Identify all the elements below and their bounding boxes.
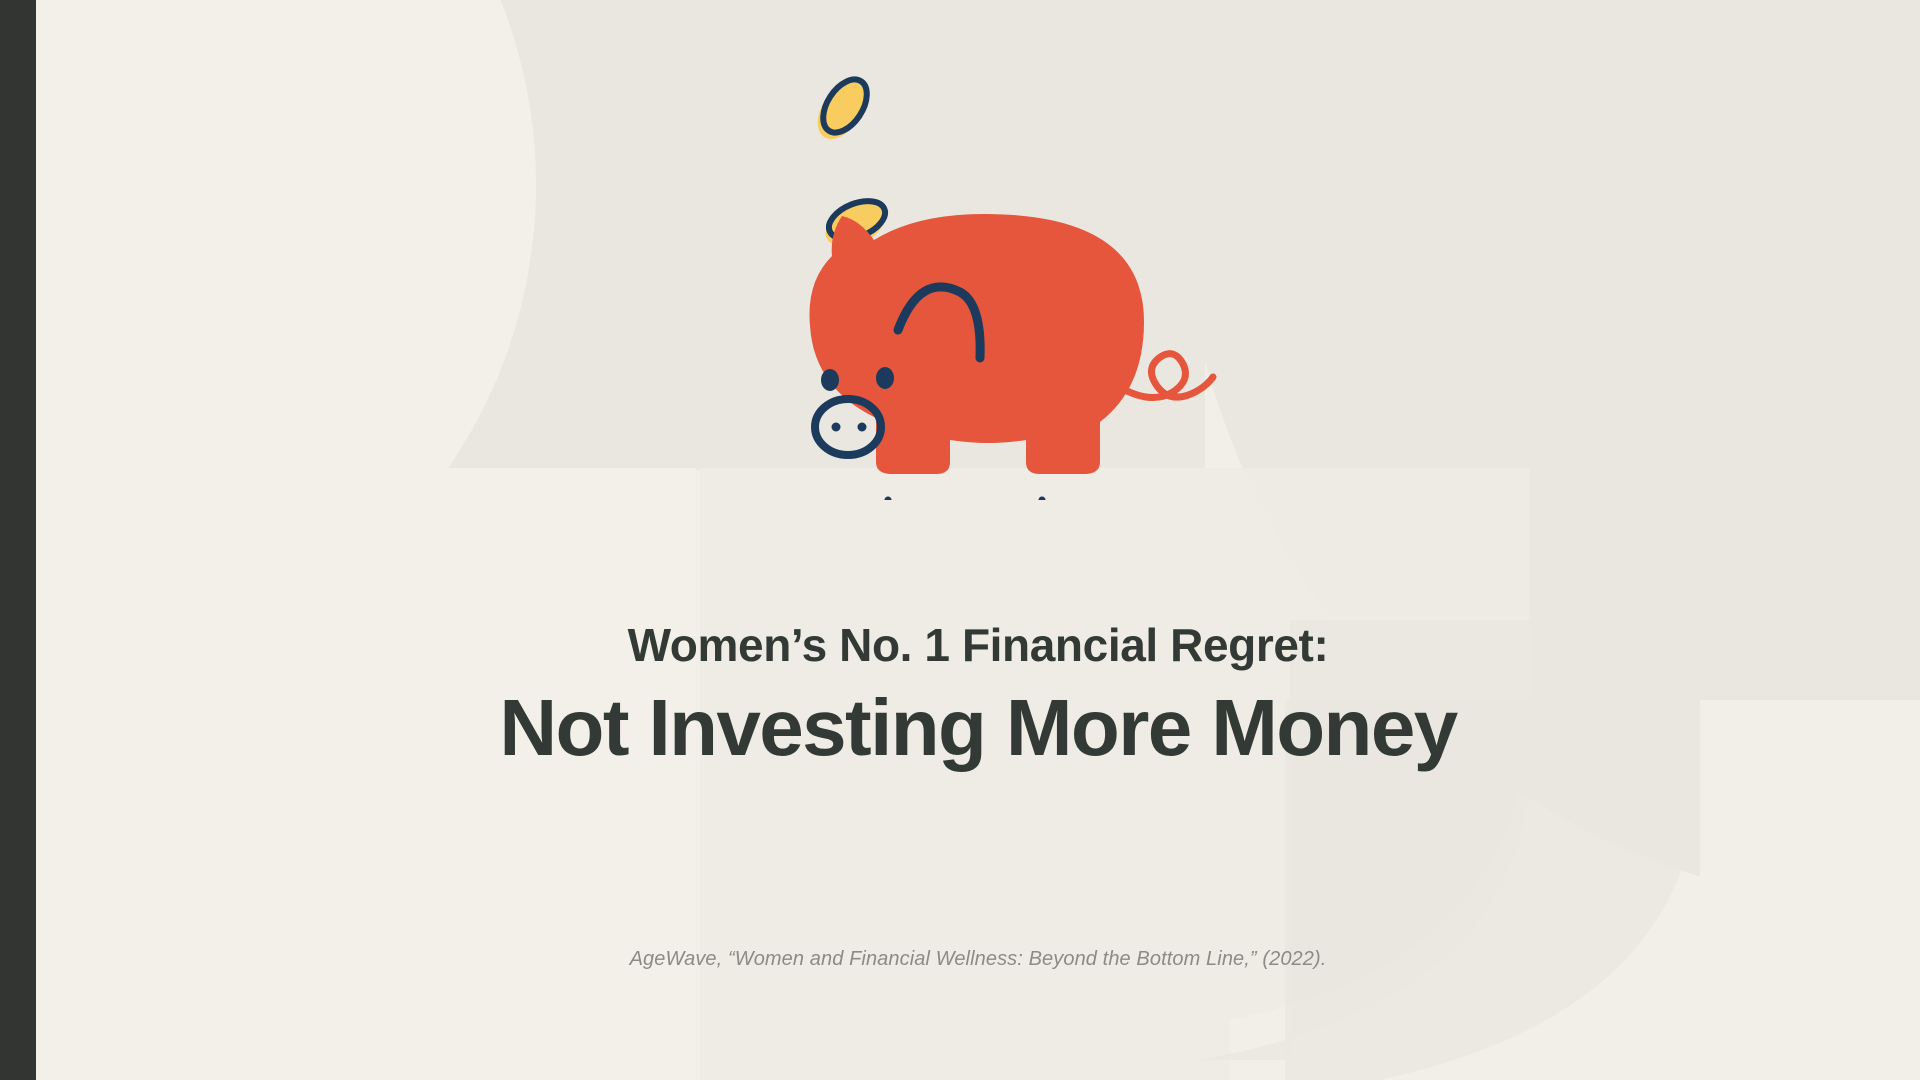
piggy-bank-snout	[815, 399, 881, 455]
piggy-bank-body	[809, 214, 1213, 500]
background-block-bottom-left	[36, 468, 696, 1080]
eyebrow-text: Women’s No. 1 Financial Regret:	[36, 620, 1920, 671]
piggy-bank-illustration	[780, 40, 1300, 500]
slide-canvas: Women’s No. 1 Financial Regret: Not Inve…	[0, 0, 1920, 1080]
background-block-left-light	[36, 0, 336, 480]
title-group: Women’s No. 1 Financial Regret: Not Inve…	[36, 620, 1920, 771]
left-accent-rail	[0, 0, 36, 1080]
page-title: Not Investing More Money	[36, 685, 1920, 771]
falling-coin-upper-icon	[808, 72, 876, 148]
background-wedge-upper-left	[36, 0, 640, 530]
background-quarter-circle-left	[36, 180, 320, 540]
background-curve-bottom-center	[700, 468, 1530, 1080]
piggy-bank-eye-right	[876, 367, 894, 389]
source-citation: AgeWave, “Women and Financial Wellness: …	[36, 948, 1920, 971]
background-circle-left	[0, 0, 536, 685]
background-block-center-bottom	[700, 468, 1230, 1080]
piggy-bank-eye-left	[821, 369, 839, 391]
